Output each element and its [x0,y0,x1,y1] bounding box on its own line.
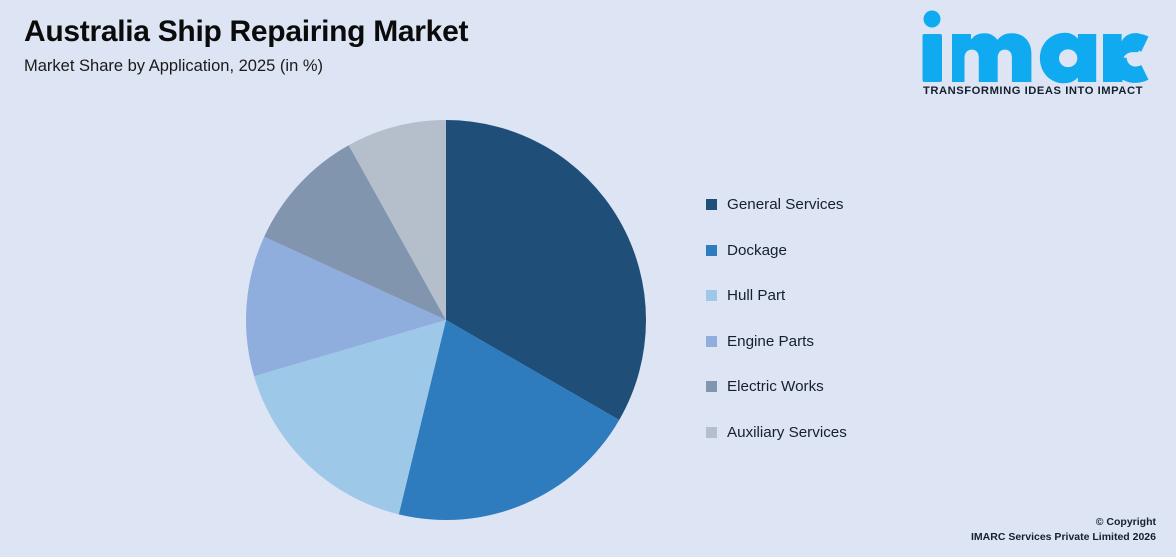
footer-copyright-line: © Copyright [971,515,1156,530]
footer-copyright: © Copyright IMARC Services Private Limit… [971,515,1156,545]
legend-swatch-icon [706,336,717,347]
legend-item-label: Hull Part [727,288,785,303]
legend-item[interactable]: General Services [706,182,1036,228]
legend-item[interactable]: Electric Works [706,364,1036,410]
footer-company-line: IMARC Services Private Limited 2026 [971,530,1156,545]
brand-logo: TRANSFORMING IDEAS INTO IMPACT [908,10,1158,97]
legend-item[interactable]: Hull Part [706,273,1036,319]
legend-item[interactable]: Auxiliary Services [706,410,1036,456]
legend-item-label: Electric Works [727,379,824,394]
legend-swatch-icon [706,290,717,301]
pie-slice-group [246,120,646,520]
legend-swatch-icon [706,381,717,392]
chart-title: Australia Ship Repairing Market [24,14,724,49]
chart-page: Australia Ship Repairing Market Market S… [0,0,1176,557]
legend-item[interactable]: Engine Parts [706,319,1036,365]
legend-swatch-icon [706,427,717,438]
legend-item[interactable]: Dockage [706,228,1036,274]
legend-item-label: Auxiliary Services [727,425,847,440]
pie-chart [245,119,647,521]
legend-item-label: Engine Parts [727,334,814,349]
legend-swatch-icon [706,199,717,210]
imarc-wordmark-icon [917,10,1149,84]
chart-subtitle: Market Share by Application, 2025 (in %) [24,57,724,77]
chart-legend: General ServicesDockageHull PartEngine P… [706,182,1036,455]
legend-item-label: General Services [727,197,844,212]
chart-header: Australia Ship Repairing Market Market S… [24,14,724,77]
pie-chart-svg [245,119,647,521]
logo-tagline: TRANSFORMING IDEAS INTO IMPACT [908,85,1158,97]
legend-item-label: Dockage [727,243,787,258]
legend-swatch-icon [706,245,717,256]
